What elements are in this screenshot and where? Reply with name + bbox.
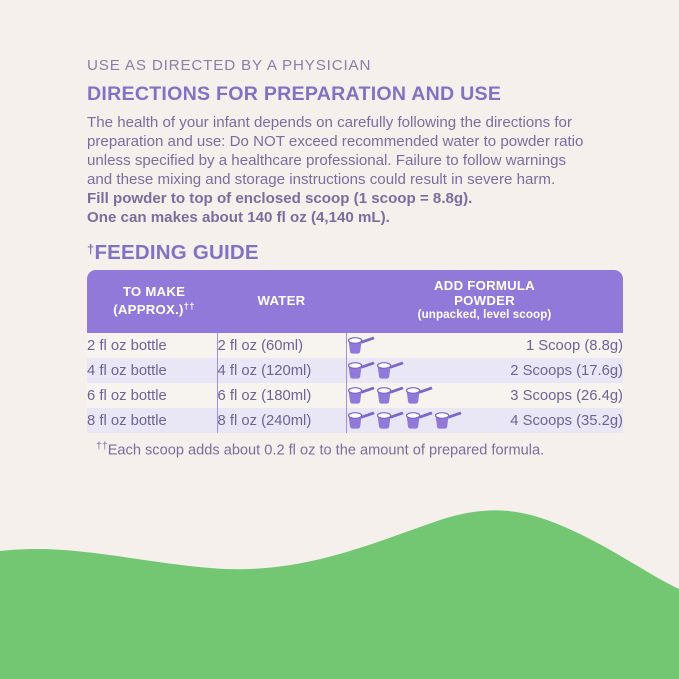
scoop-icon xyxy=(405,385,434,406)
cell-add-formula-powder: 3 Scoops (26.4g) xyxy=(346,383,623,408)
feeding-guide-table-head: TO MAKE (APPROX.)†† WATER ADD FORMULA PO… xyxy=(87,270,623,333)
column-header-to-make-dagger: †† xyxy=(184,301,195,312)
column-header-to-make-line2: (APPROX.) xyxy=(113,302,183,317)
scoop-icon xyxy=(347,360,376,381)
scoop-icon xyxy=(376,410,405,431)
column-header-to-make: TO MAKE (APPROX.)†† xyxy=(87,270,217,333)
cell-water: 2 fl oz (60ml) xyxy=(217,333,346,358)
scoop-icon xyxy=(434,410,463,431)
cell-to-make: 4 fl oz bottle xyxy=(87,358,217,383)
powder-cell-inner: 3 Scoops (26.4g) xyxy=(347,385,624,407)
page-title: DIRECTIONS FOR PREPARATION AND USE xyxy=(87,84,599,106)
scoop-icon xyxy=(376,385,405,406)
table-row: 4 fl oz bottle4 fl oz (120ml)2 Scoops (1… xyxy=(87,358,623,383)
scoop-icon xyxy=(376,360,405,381)
powder-amount-label: 1 Scoop (8.8g) xyxy=(526,338,623,354)
column-header-powder-line1: ADD FORMULA xyxy=(434,278,535,293)
scoop-icon-group xyxy=(347,385,434,407)
footnote-text: Each scoop adds about 0.2 fl oz to the a… xyxy=(108,442,544,458)
scoop-fill-note: Fill powder to top of enclosed scoop (1 … xyxy=(87,190,587,209)
cell-to-make: 6 fl oz bottle xyxy=(87,383,217,408)
column-header-water-text: WATER xyxy=(258,293,306,308)
table-row: 6 fl oz bottle6 fl oz (180ml)3 Scoops (2… xyxy=(87,383,623,408)
cell-to-make: 8 fl oz bottle xyxy=(87,408,217,433)
table-header-row: TO MAKE (APPROX.)†† WATER ADD FORMULA PO… xyxy=(87,270,623,333)
scoop-icon-group xyxy=(347,410,463,432)
feeding-guide-title-text: FEEDING GUIDE xyxy=(94,241,258,264)
cell-add-formula-powder: 2 Scoops (17.6g) xyxy=(346,358,623,383)
feeding-guide-title: †FEEDING GUIDE xyxy=(87,242,599,265)
scoop-icon xyxy=(347,335,376,356)
cell-water: 4 fl oz (120ml) xyxy=(217,358,346,383)
table-row: 8 fl oz bottle8 fl oz (240ml)4 Scoops (3… xyxy=(87,408,623,433)
powder-cell-inner: 4 Scoops (35.2g) xyxy=(347,410,624,432)
scoop-icon xyxy=(347,385,376,406)
feeding-guide-table: TO MAKE (APPROX.)†† WATER ADD FORMULA PO… xyxy=(87,270,623,433)
cell-water: 6 fl oz (180ml) xyxy=(217,383,346,408)
scoop-icon xyxy=(405,410,434,431)
column-header-water: WATER xyxy=(217,270,346,333)
directions-paragraph-text: The health of your infant depends on car… xyxy=(87,114,583,188)
powder-amount-label: 4 Scoops (35.2g) xyxy=(510,413,623,429)
cell-add-formula-powder: 4 Scoops (35.2g) xyxy=(346,408,623,433)
column-header-add-formula-powder: ADD FORMULA POWDER (unpacked, level scoo… xyxy=(346,270,623,333)
feeding-guide-footnote: ††Each scoop adds about 0.2 fl oz to the… xyxy=(96,437,566,459)
directions-paragraph: The health of your infant depends on car… xyxy=(87,114,587,227)
eyebrow-text: USE AS DIRECTED BY A PHYSICIAN xyxy=(87,58,599,75)
green-wave-decoration xyxy=(0,489,679,679)
can-yield-note: One can makes about 140 fl oz (4,140 mL)… xyxy=(87,209,587,228)
powder-amount-label: 3 Scoops (26.4g) xyxy=(510,388,623,404)
scoop-icon-group xyxy=(347,360,405,382)
cell-water: 8 fl oz (240ml) xyxy=(217,408,346,433)
feeding-guide-table-body: 2 fl oz bottle2 fl oz (60ml)1 Scoop (8.8… xyxy=(87,333,623,433)
powder-cell-inner: 1 Scoop (8.8g) xyxy=(347,335,624,357)
powder-amount-label: 2 Scoops (17.6g) xyxy=(510,363,623,379)
table-row: 2 fl oz bottle2 fl oz (60ml)1 Scoop (8.8… xyxy=(87,333,623,358)
column-header-powder-line2: POWDER xyxy=(454,293,515,308)
scoop-icon-group xyxy=(347,335,376,357)
directions-content: USE AS DIRECTED BY A PHYSICIAN DIRECTION… xyxy=(87,58,599,459)
footnote-dagger: †† xyxy=(96,440,108,452)
scoop-icon xyxy=(347,410,376,431)
cell-add-formula-powder: 1 Scoop (8.8g) xyxy=(346,333,623,358)
column-header-to-make-line1: TO MAKE xyxy=(123,284,185,299)
cell-to-make: 2 fl oz bottle xyxy=(87,333,217,358)
column-header-powder-sub: (unpacked, level scoop) xyxy=(350,308,619,323)
powder-cell-inner: 2 Scoops (17.6g) xyxy=(347,360,624,382)
label-panel: USE AS DIRECTED BY A PHYSICIAN DIRECTION… xyxy=(0,0,679,679)
